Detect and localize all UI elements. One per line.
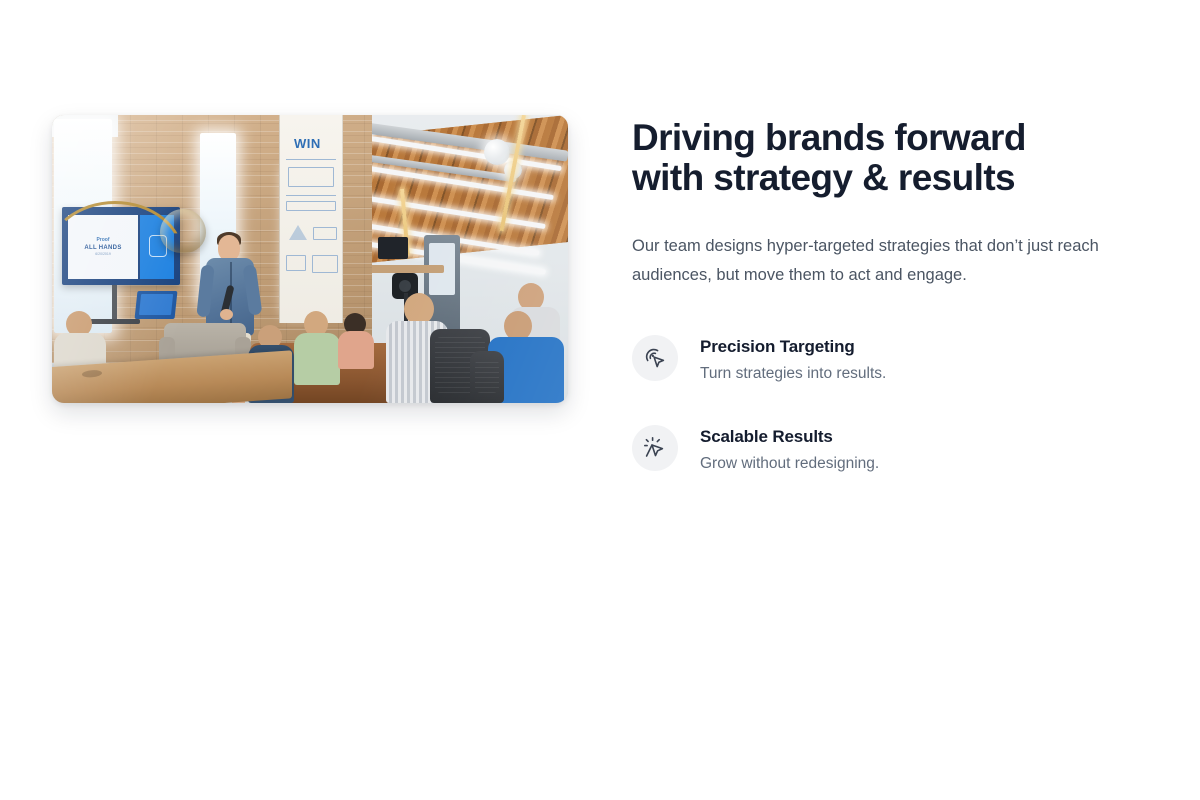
photo-canvas: WIN Proof ALL HANDS <box>52 115 568 403</box>
attendee-body <box>338 331 374 369</box>
section-subhead: Our team designs hyper-targeted strategi… <box>632 232 1148 291</box>
feature-description: Grow without redesigning. <box>700 455 879 473</box>
cursor-click-icon <box>632 335 678 381</box>
feature-title: Precision Targeting <box>700 337 886 357</box>
hero-grid: WIN Proof ALL HANDS <box>52 115 1148 473</box>
presenter-hand <box>220 309 233 320</box>
globe-pendant-lamp <box>484 139 510 165</box>
blueprint-line <box>286 159 336 160</box>
feature-list: Precision Targeting Turn strategies into… <box>632 335 1148 473</box>
feature-item-precision-targeting: Precision Targeting Turn strategies into… <box>632 335 1148 383</box>
cursor-spark-icon <box>632 425 678 471</box>
blueprint-line <box>286 195 336 196</box>
blueprint-banner <box>286 201 336 211</box>
feature-text: Scalable Results Grow without redesignin… <box>700 425 879 473</box>
office-meeting-photo: WIN Proof ALL HANDS <box>52 115 568 403</box>
attendee-body <box>294 333 340 385</box>
feature-title: Scalable Results <box>700 427 879 447</box>
media-column: WIN Proof ALL HANDS <box>52 115 568 403</box>
copy-column: Driving brands forward with strategy & r… <box>632 115 1148 473</box>
wall-graphic-text: WIN <box>294 137 321 150</box>
blueprint-triangle <box>289 225 307 240</box>
tv-base <box>90 319 140 324</box>
blueprint-box <box>312 255 338 273</box>
feature-description: Turn strategies into results. <box>700 365 886 383</box>
feature-text: Precision Targeting Turn strategies into… <box>700 335 886 383</box>
blueprint-box <box>313 227 337 240</box>
headline-line-1: Driving brands forward <box>632 117 1026 158</box>
laptop <box>135 291 178 319</box>
hero-feature-section: WIN Proof ALL HANDS <box>0 0 1200 800</box>
blueprint-box <box>288 167 334 187</box>
tv-stand <box>112 285 117 321</box>
blueprint-box <box>286 255 306 271</box>
blueprint-wall-graphic: WIN <box>279 115 343 323</box>
far-monitor <box>378 237 408 259</box>
office-chair <box>470 351 504 403</box>
headline-line-2: with strategy & results <box>632 157 1015 198</box>
feature-item-scalable-results: Scalable Results Grow without redesignin… <box>632 425 1148 473</box>
page-title: Driving brands forward with strategy & r… <box>632 118 1132 198</box>
